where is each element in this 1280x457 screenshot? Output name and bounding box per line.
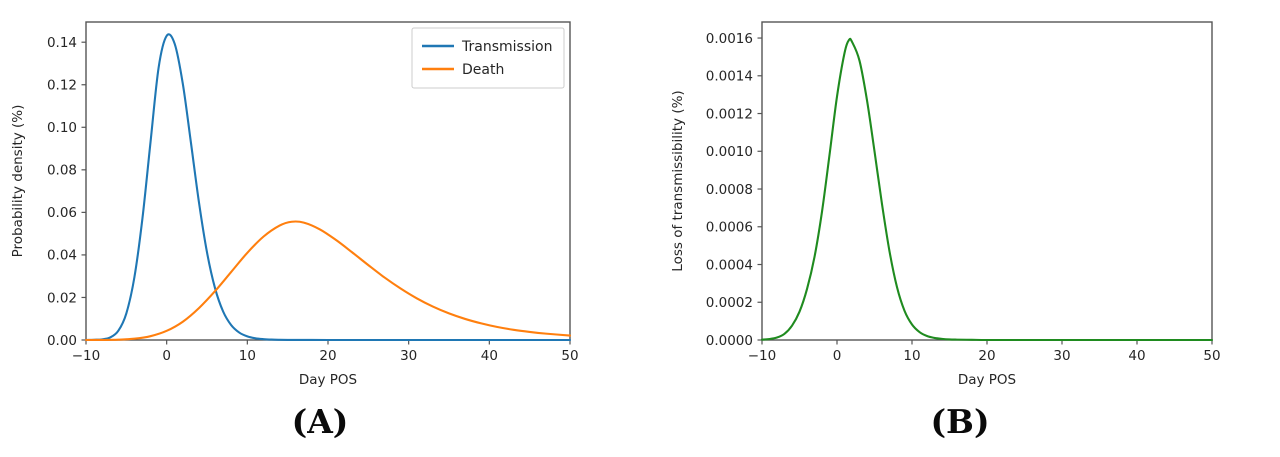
x-tick-label: 40 <box>1128 348 1145 364</box>
y-tick-label: 0.04 <box>47 248 77 264</box>
axes-frame <box>762 22 1212 340</box>
y-tick-label: 0.10 <box>47 120 77 136</box>
y-tick-label: 0.0002 <box>706 295 753 311</box>
panel-a: −10010203040500.000.020.040.060.080.100.… <box>0 0 640 457</box>
figure-container: −10010203040500.000.020.040.060.080.100.… <box>0 0 1280 457</box>
x-tick-label: 30 <box>400 348 417 364</box>
y-tick-label: 0.06 <box>47 205 77 221</box>
legend-label-death: Death <box>462 62 504 78</box>
panel-b: −10010203040500.00000.00020.00040.00060.… <box>640 0 1280 457</box>
x-tick-label: 10 <box>903 348 920 364</box>
chart-a-plot-area: −10010203040500.000.020.040.060.080.100.… <box>10 22 579 388</box>
x-tick-label: 10 <box>239 348 256 364</box>
chart-b: −10010203040500.00000.00020.00040.00060.… <box>640 0 1280 400</box>
y-tick-label: 0.0000 <box>706 333 753 349</box>
y-tick-label: 0.00 <box>47 333 77 349</box>
y-tick-label: 0.12 <box>47 78 77 94</box>
y-tick-label: 0.0006 <box>706 220 753 236</box>
series-line-loss-of-transmissibility <box>762 39 1212 340</box>
y-tick-label: 0.0016 <box>706 31 753 47</box>
series-line-death <box>86 221 570 340</box>
y-tick-label: 0.0008 <box>706 182 753 198</box>
panel-b-caption: (B) <box>640 392 1280 452</box>
x-tick-label: −10 <box>748 348 777 364</box>
y-tick-label: 0.14 <box>47 35 77 51</box>
chart-b-plot-area: −10010203040500.00000.00020.00040.00060.… <box>670 22 1221 388</box>
x-tick-label: 50 <box>1203 348 1220 364</box>
x-tick-label: 0 <box>162 348 171 364</box>
panel-a-caption: (A) <box>0 392 640 452</box>
x-axis-title: Day POS <box>299 372 357 388</box>
chart-a: −10010203040500.000.020.040.060.080.100.… <box>0 0 640 400</box>
legend-label-transmission: Transmission <box>461 39 552 55</box>
y-tick-label: 0.0014 <box>706 69 753 85</box>
x-tick-label: 50 <box>561 348 578 364</box>
x-tick-label: 40 <box>481 348 498 364</box>
x-tick-label: −10 <box>72 348 101 364</box>
y-tick-label: 0.08 <box>47 163 77 179</box>
y-axis-title: Loss of transmissibility (%) <box>670 90 686 271</box>
y-tick-label: 0.0010 <box>706 144 753 160</box>
y-tick-label: 0.02 <box>47 290 77 306</box>
x-tick-label: 0 <box>833 348 842 364</box>
y-axis-title: Probability density (%) <box>10 105 26 258</box>
y-tick-label: 0.0012 <box>706 106 753 122</box>
legend-box <box>412 28 564 88</box>
x-tick-label: 30 <box>1053 348 1070 364</box>
x-tick-label: 20 <box>978 348 995 364</box>
y-tick-label: 0.0004 <box>706 257 753 273</box>
x-tick-label: 20 <box>319 348 336 364</box>
x-axis-title: Day POS <box>958 372 1016 388</box>
